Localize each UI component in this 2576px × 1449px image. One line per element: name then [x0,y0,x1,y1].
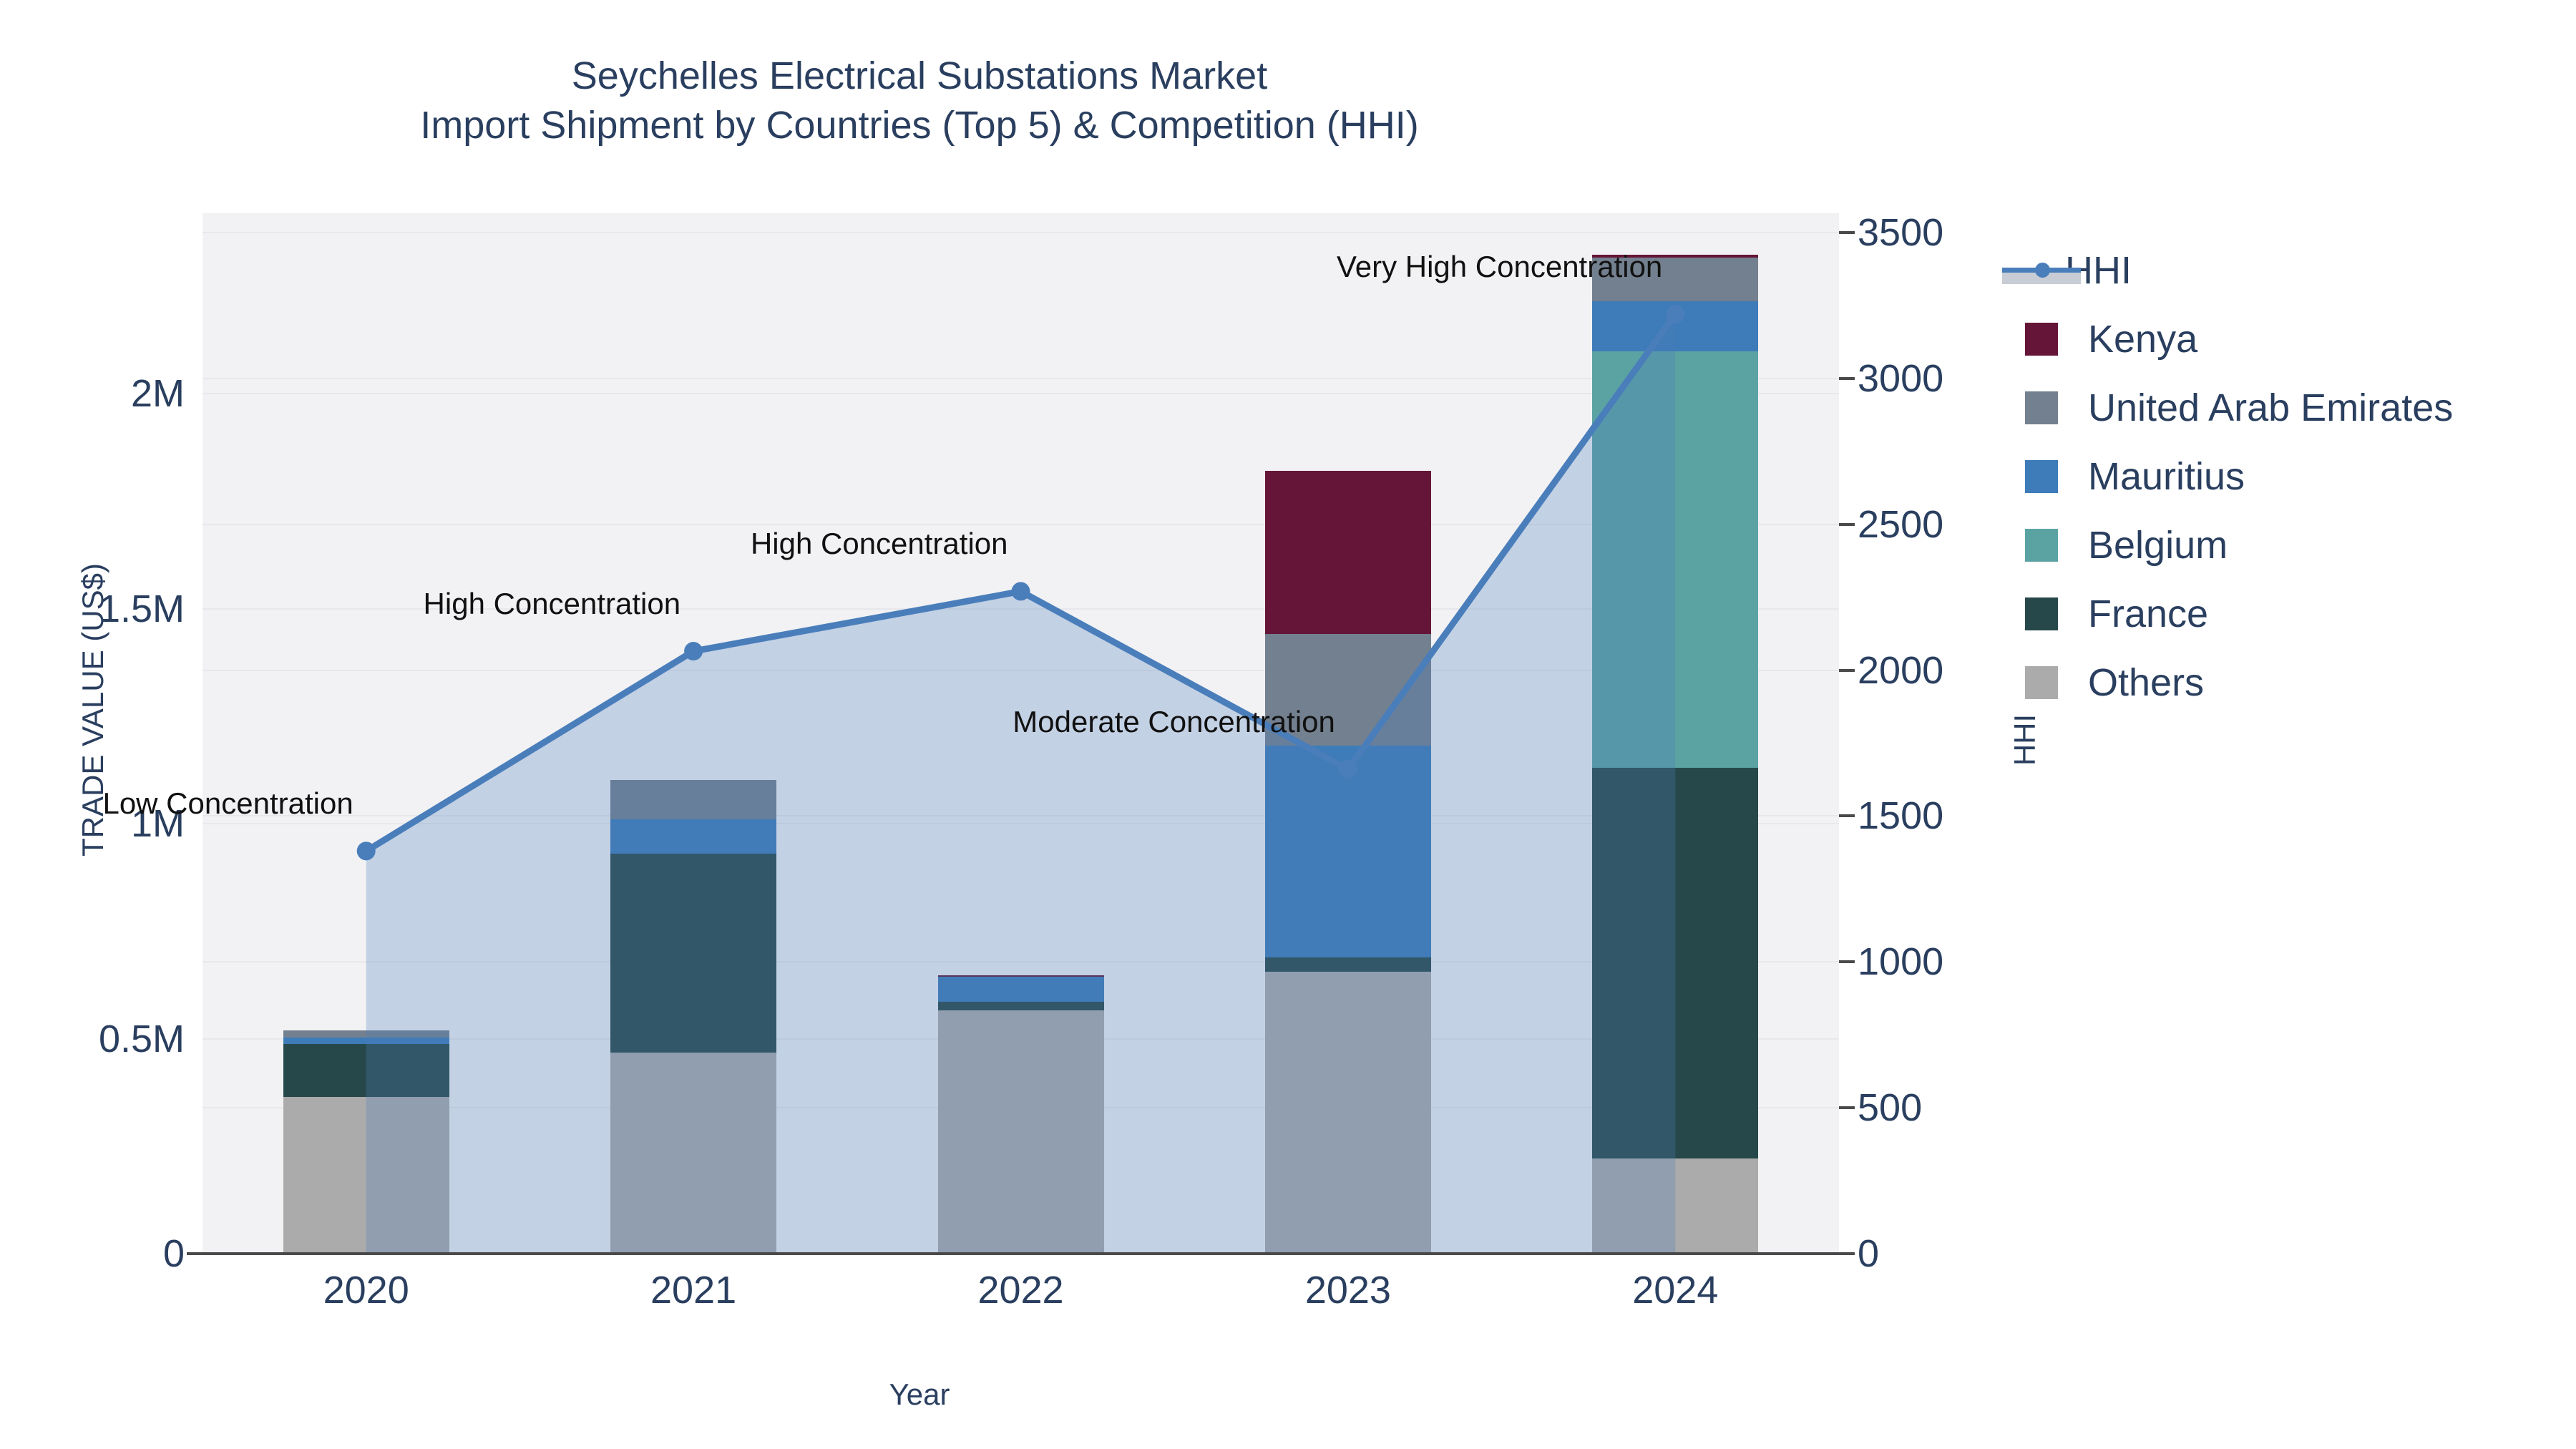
bar-segment-mauritius-2022[interactable] [938,977,1104,1002]
legend-swatch-icon [2025,323,2058,356]
legend-line-marker-icon [2002,254,2081,287]
hhi-annotation-2021: High Concentration [424,587,681,621]
bar-segment-mauritius-2020[interactable] [283,1038,449,1044]
legend-swatch-icon [2025,460,2058,493]
y2-axis-tick-label: 0 [1858,1231,2087,1276]
legend-label: Kenya [2088,317,2197,361]
bar-segment-france-2022[interactable] [938,1002,1104,1010]
bar-segment-kenya-2023[interactable] [1265,471,1431,634]
y2-axis-tick-mark [1839,1106,1855,1109]
bar-segment-france-2023[interactable] [1265,957,1431,972]
y-axis-tick-label: 0.5M [0,1017,185,1061]
legend-swatch-icon [2025,529,2058,562]
bar-segment-mauritius-2024[interactable] [1592,301,1758,352]
y-axis-tick-label: 2M [0,371,185,416]
bar-segment-others-2023[interactable] [1265,972,1431,1254]
legend-label: United Arab Emirates [2088,386,2453,430]
bar-segment-france-2021[interactable] [610,854,776,1053]
legend-item-kenya[interactable]: Kenya [2025,305,2569,374]
x-axis-tick-label-2020: 2020 [259,1268,474,1312]
legend-swatch-icon [2025,391,2058,424]
legend-label: France [2088,592,2208,636]
x-axis-title: Year [0,1377,1839,1412]
chart-title: Seychelles Electrical Substations Market… [0,52,1839,150]
x-axis-tick-label-2021: 2021 [586,1268,801,1312]
x-axis-tick-label-2023: 2023 [1241,1268,1455,1312]
legend-item-belgium[interactable]: Belgium [2025,511,2569,580]
y2-axis-tick-mark [1839,814,1855,817]
bar-segment-others-2021[interactable] [610,1053,776,1254]
legend-item-united-arab-emirates[interactable]: United Arab Emirates [2025,374,2569,442]
legend-item-france[interactable]: France [2025,580,2569,648]
bar-segment-united-arab-emirates-2021[interactable] [610,780,776,819]
y2-axis-tick-mark [1839,377,1855,380]
legend-label: Others [2088,660,2204,705]
chart-title-line1: Seychelles Electrical Substations Market [0,52,1839,101]
x-axis-tick-label-2022: 2022 [914,1268,1128,1312]
hhi-annotation-2023: Moderate Concentration [1013,705,1335,739]
hhi-annotation-2022: High Concentration [751,527,1008,561]
bar-segment-others-2020[interactable] [283,1097,449,1254]
y2-axis-tick-label: 1000 [1858,940,2087,984]
bar-segment-belgium-2024[interactable] [1592,351,1758,768]
bar-segment-united-arab-emirates-2020[interactable] [283,1030,449,1038]
y-axis-tick-label: 0 [0,1231,185,1276]
bar-segment-kenya-2022[interactable] [938,975,1104,977]
legend: HHIKenyaUnited Arab EmiratesMauritiusBel… [2025,236,2569,717]
bar-segment-mauritius-2021[interactable] [610,819,776,854]
y2-axis-tick-mark [1839,523,1855,526]
legend-label: Mauritius [2088,454,2245,499]
x-axis-tick-label-2024: 2024 [1568,1268,1782,1312]
bar-segment-mauritius-2023[interactable] [1265,746,1431,957]
legend-label: Belgium [2088,523,2228,567]
y-axis-title: TRADE VALUE (US$) [76,488,110,932]
y2-axis-tick-mark [1839,1252,1855,1255]
hhi-annotation-2020: Low Concentration [102,786,353,821]
y-axis-tick-mark [187,1252,203,1255]
y2-axis-tick-mark [1839,669,1855,672]
bar-segment-france-2020[interactable] [283,1044,449,1096]
y2-axis-tick-mark [1839,960,1855,963]
bar-segment-others-2024[interactable] [1592,1158,1758,1254]
y2-axis-tick-label: 1500 [1858,794,2087,838]
y2-axis-tick-label: 500 [1858,1085,2087,1130]
hhi-annotation-2024: Very High Concentration [1337,250,1662,284]
legend-swatch-icon [2025,666,2058,699]
bar-segment-france-2024[interactable] [1592,768,1758,1158]
legend-line-dot [2035,263,2050,278]
gridline [203,232,1839,233]
y2-axis-tick-mark [1839,231,1855,234]
x-axis-spine [203,1252,1839,1255]
legend-item-hhi[interactable]: HHI [2025,236,2569,305]
legend-item-others[interactable]: Others [2025,648,2569,717]
bar-segment-others-2022[interactable] [938,1010,1104,1254]
legend-swatch-icon [2025,597,2058,630]
chart-title-line2: Import Shipment by Countries (Top 5) & C… [0,101,1839,150]
legend-item-mauritius[interactable]: Mauritius [2025,442,2569,511]
